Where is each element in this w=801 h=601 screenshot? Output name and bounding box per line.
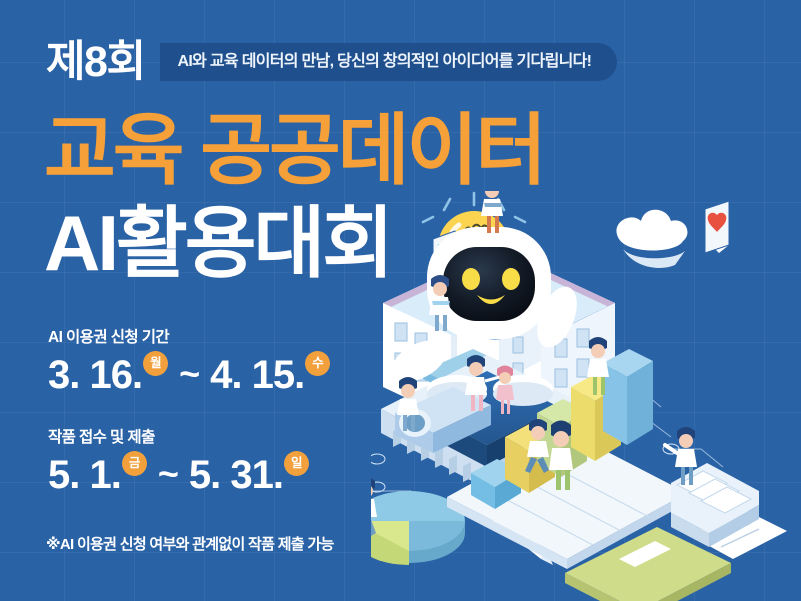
schedule-block-submission: 작품 접수 및 제출 5. 1. 금 ~ 5. 31. 일 — [48, 430, 309, 495]
text-content-layer: 제8회 AI와 교육 데이터의 만남, 당신의 창의적인 아이디어를 기다립니다… — [0, 0, 801, 601]
schedule-date-range: 3. 16. 월 ~ 4. 15. 수 — [48, 355, 330, 395]
schedule-label: AI 이용권 신청 기간 — [48, 330, 330, 346]
schedule-separator: ~ — [158, 455, 178, 493]
page-title-line2: AI활용대회 — [44, 203, 391, 285]
edition-number: 제8회 — [46, 41, 145, 84]
schedule-date-range: 5. 1. 금 ~ 5. 31. 일 — [48, 455, 309, 495]
page-title-line1: 교육 공공데이터 — [44, 110, 544, 192]
tagline-banner: AI와 교육 데이터의 만남, 당신의 창의적인 아이디어를 기다립니다! — [160, 43, 618, 81]
schedule-separator: ~ — [179, 355, 199, 393]
edition-header: 제8회 AI와 교육 데이터의 만남, 당신의 창의적인 아이디어를 기다립니다… — [46, 36, 617, 88]
schedule-start-day-badge: 금 — [122, 451, 147, 476]
schedule-start-day-badge: 월 — [143, 351, 168, 376]
promotional-poster: 제8회 AI와 교육 데이터의 만남, 당신의 창의적인 아이디어를 기다립니다… — [0, 0, 801, 601]
schedule-end-date: 5. 31. — [189, 455, 283, 495]
schedule-block-application: AI 이용권 신청 기간 3. 16. 월 ~ 4. 15. 수 — [48, 330, 330, 395]
footnote-text: ※AI 이용권 신청 여부와 관계없이 작품 제출 가능 — [46, 533, 334, 554]
schedule-end-date: 4. 15. — [210, 355, 304, 395]
schedule-start-date: 3. 16. — [48, 355, 142, 395]
schedule-end-day-badge: 일 — [284, 451, 309, 476]
schedule-end-day-badge: 수 — [305, 351, 330, 376]
schedule-start-date: 5. 1. — [48, 455, 121, 495]
schedule-label: 작품 접수 및 제출 — [48, 430, 309, 446]
